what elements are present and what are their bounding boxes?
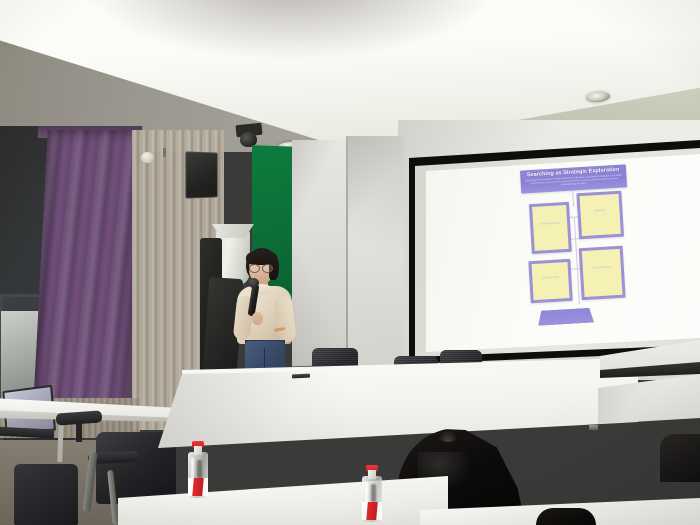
foreground-chair bbox=[14, 464, 78, 525]
presenter bbox=[224, 248, 306, 378]
ceiling-dome-light-icon bbox=[141, 152, 154, 163]
audience-member-head bbox=[536, 508, 596, 525]
bottle-shadow bbox=[371, 484, 376, 502]
slide-content-box: Information Need bbox=[528, 259, 572, 303]
ceiling-dome-stem bbox=[163, 148, 166, 157]
desk-clip bbox=[589, 425, 598, 430]
slide-connector bbox=[572, 191, 574, 207]
bottle-shadow bbox=[197, 460, 202, 478]
slide-box-text: Information Need bbox=[534, 276, 566, 281]
glasses-icon bbox=[249, 264, 273, 271]
projected-slide: Searching as Strategic Exploration Searc… bbox=[401, 140, 700, 370]
chair-tablet-stem bbox=[76, 420, 82, 442]
marble-podium bbox=[158, 360, 638, 448]
column-seam bbox=[346, 136, 348, 374]
marble-column bbox=[348, 136, 404, 374]
presenter-hand bbox=[252, 312, 263, 325]
bottle-label bbox=[362, 502, 382, 520]
bottle-label bbox=[188, 478, 208, 496]
slide-title-bar: Searching as Strategic Exploration Searc… bbox=[520, 164, 627, 193]
slide-box-text: Search Strategies bbox=[585, 266, 619, 271]
slide-footer-banner bbox=[537, 308, 594, 326]
slide-connector bbox=[574, 216, 576, 238]
loudspeaker bbox=[185, 151, 217, 198]
slide-connector bbox=[575, 238, 578, 268]
audience-shoulder bbox=[660, 434, 700, 482]
slide-box-text: Knowledge Practices bbox=[535, 222, 565, 227]
photograph-scene: Searching as Strategic Exploration Searc… bbox=[0, 0, 700, 525]
purple-curtain bbox=[32, 130, 148, 426]
slide-content-box: Dispositions bbox=[576, 191, 624, 240]
hair-part bbox=[438, 430, 458, 442]
microphone-head bbox=[248, 278, 259, 288]
slide-content-box: Search Strategies bbox=[579, 246, 626, 301]
slide-box-text: Dispositions bbox=[582, 209, 617, 214]
slide-content-box: Knowledge Practices bbox=[529, 202, 572, 254]
